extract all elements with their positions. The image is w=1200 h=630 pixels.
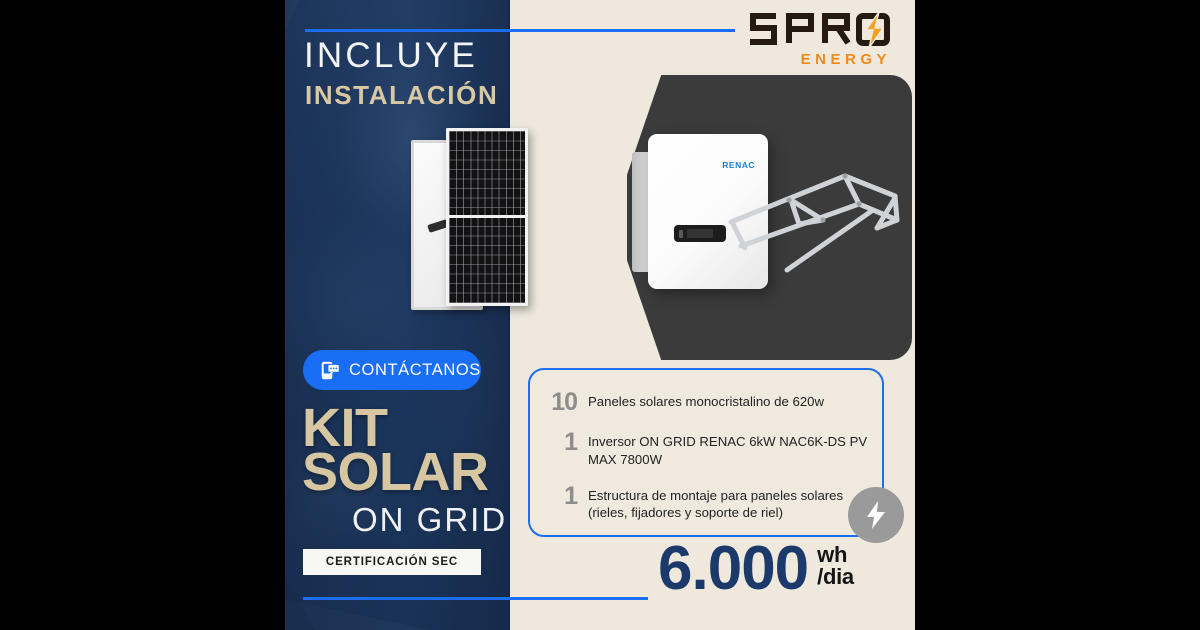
spec-list: 10 Paneles solares monocristalino de 620… [530, 370, 882, 522]
navy-panel-edge [508, 0, 510, 630]
solar-kit-advertisement: INCLUYE INSTALACIÓN CONTÁCTANOS KIT SOLA… [285, 0, 915, 630]
mounting-rack [727, 158, 902, 293]
energy-badge [848, 487, 904, 543]
spec-card: 10 Paneles solares monocristalino de 620… [528, 368, 884, 537]
logo-subtitle: ENERGY [743, 51, 891, 68]
eyebrow-incluye: INCLUYE [304, 38, 478, 73]
chat-phone-icon [320, 360, 341, 381]
output-value: 6.000 [658, 540, 808, 597]
inverter-display-indicator [679, 230, 683, 238]
spec-description: Estructura de montaje para paneles solar… [588, 483, 882, 523]
screenshot-canvas: INCLUYE INSTALACIÓN CONTÁCTANOS KIT SOLA… [0, 0, 1200, 630]
spec-description: Paneles solares monocristalino de 620w [588, 389, 824, 415]
spec-quantity: 1 [548, 429, 577, 469]
spec-description: Inversor ON GRID RENAC 6kW NAC6K-DS PV M… [588, 429, 882, 469]
bottom-accent-rule [303, 597, 648, 600]
spec-quantity: 1 [548, 483, 577, 523]
title-on-grid: ON GRID [352, 503, 507, 536]
output-unit: wh /dia [817, 544, 854, 589]
contact-button-label: CONTÁCTANOS [349, 361, 481, 380]
logo-mark [743, 10, 893, 50]
output-figure: 6.000 wh /dia [658, 540, 854, 597]
spec-item: 1 Estructura de montaje para paneles sol… [548, 483, 882, 523]
spec-quantity: 10 [548, 389, 577, 415]
inverter-display [674, 225, 726, 242]
spec-item: 1 Inversor ON GRID RENAC 6kW NAC6K-DS PV… [548, 429, 882, 469]
certification-badge: CERTIFICACIÓN SEC [303, 549, 481, 575]
spec-item: 10 Paneles solares monocristalino de 620… [548, 389, 882, 415]
contact-button[interactable]: CONTÁCTANOS [303, 350, 481, 390]
eyebrow-instalacion: INSTALACIÓN [305, 82, 498, 108]
output-unit-top: wh [817, 544, 854, 566]
title-solar: SOLAR [302, 448, 489, 498]
panel-mid-bar [449, 215, 525, 218]
brand-logo: ENERGY [743, 10, 893, 68]
certification-label: CERTIFICACIÓN SEC [326, 556, 458, 568]
top-accent-rule [305, 29, 735, 32]
lightning-bolt-icon [863, 500, 889, 530]
output-unit-bottom: /dia [817, 566, 854, 588]
spro-wordmark-icon [743, 10, 893, 50]
inverter-display-readout [687, 229, 713, 238]
solar-panel-front-view [446, 128, 528, 306]
